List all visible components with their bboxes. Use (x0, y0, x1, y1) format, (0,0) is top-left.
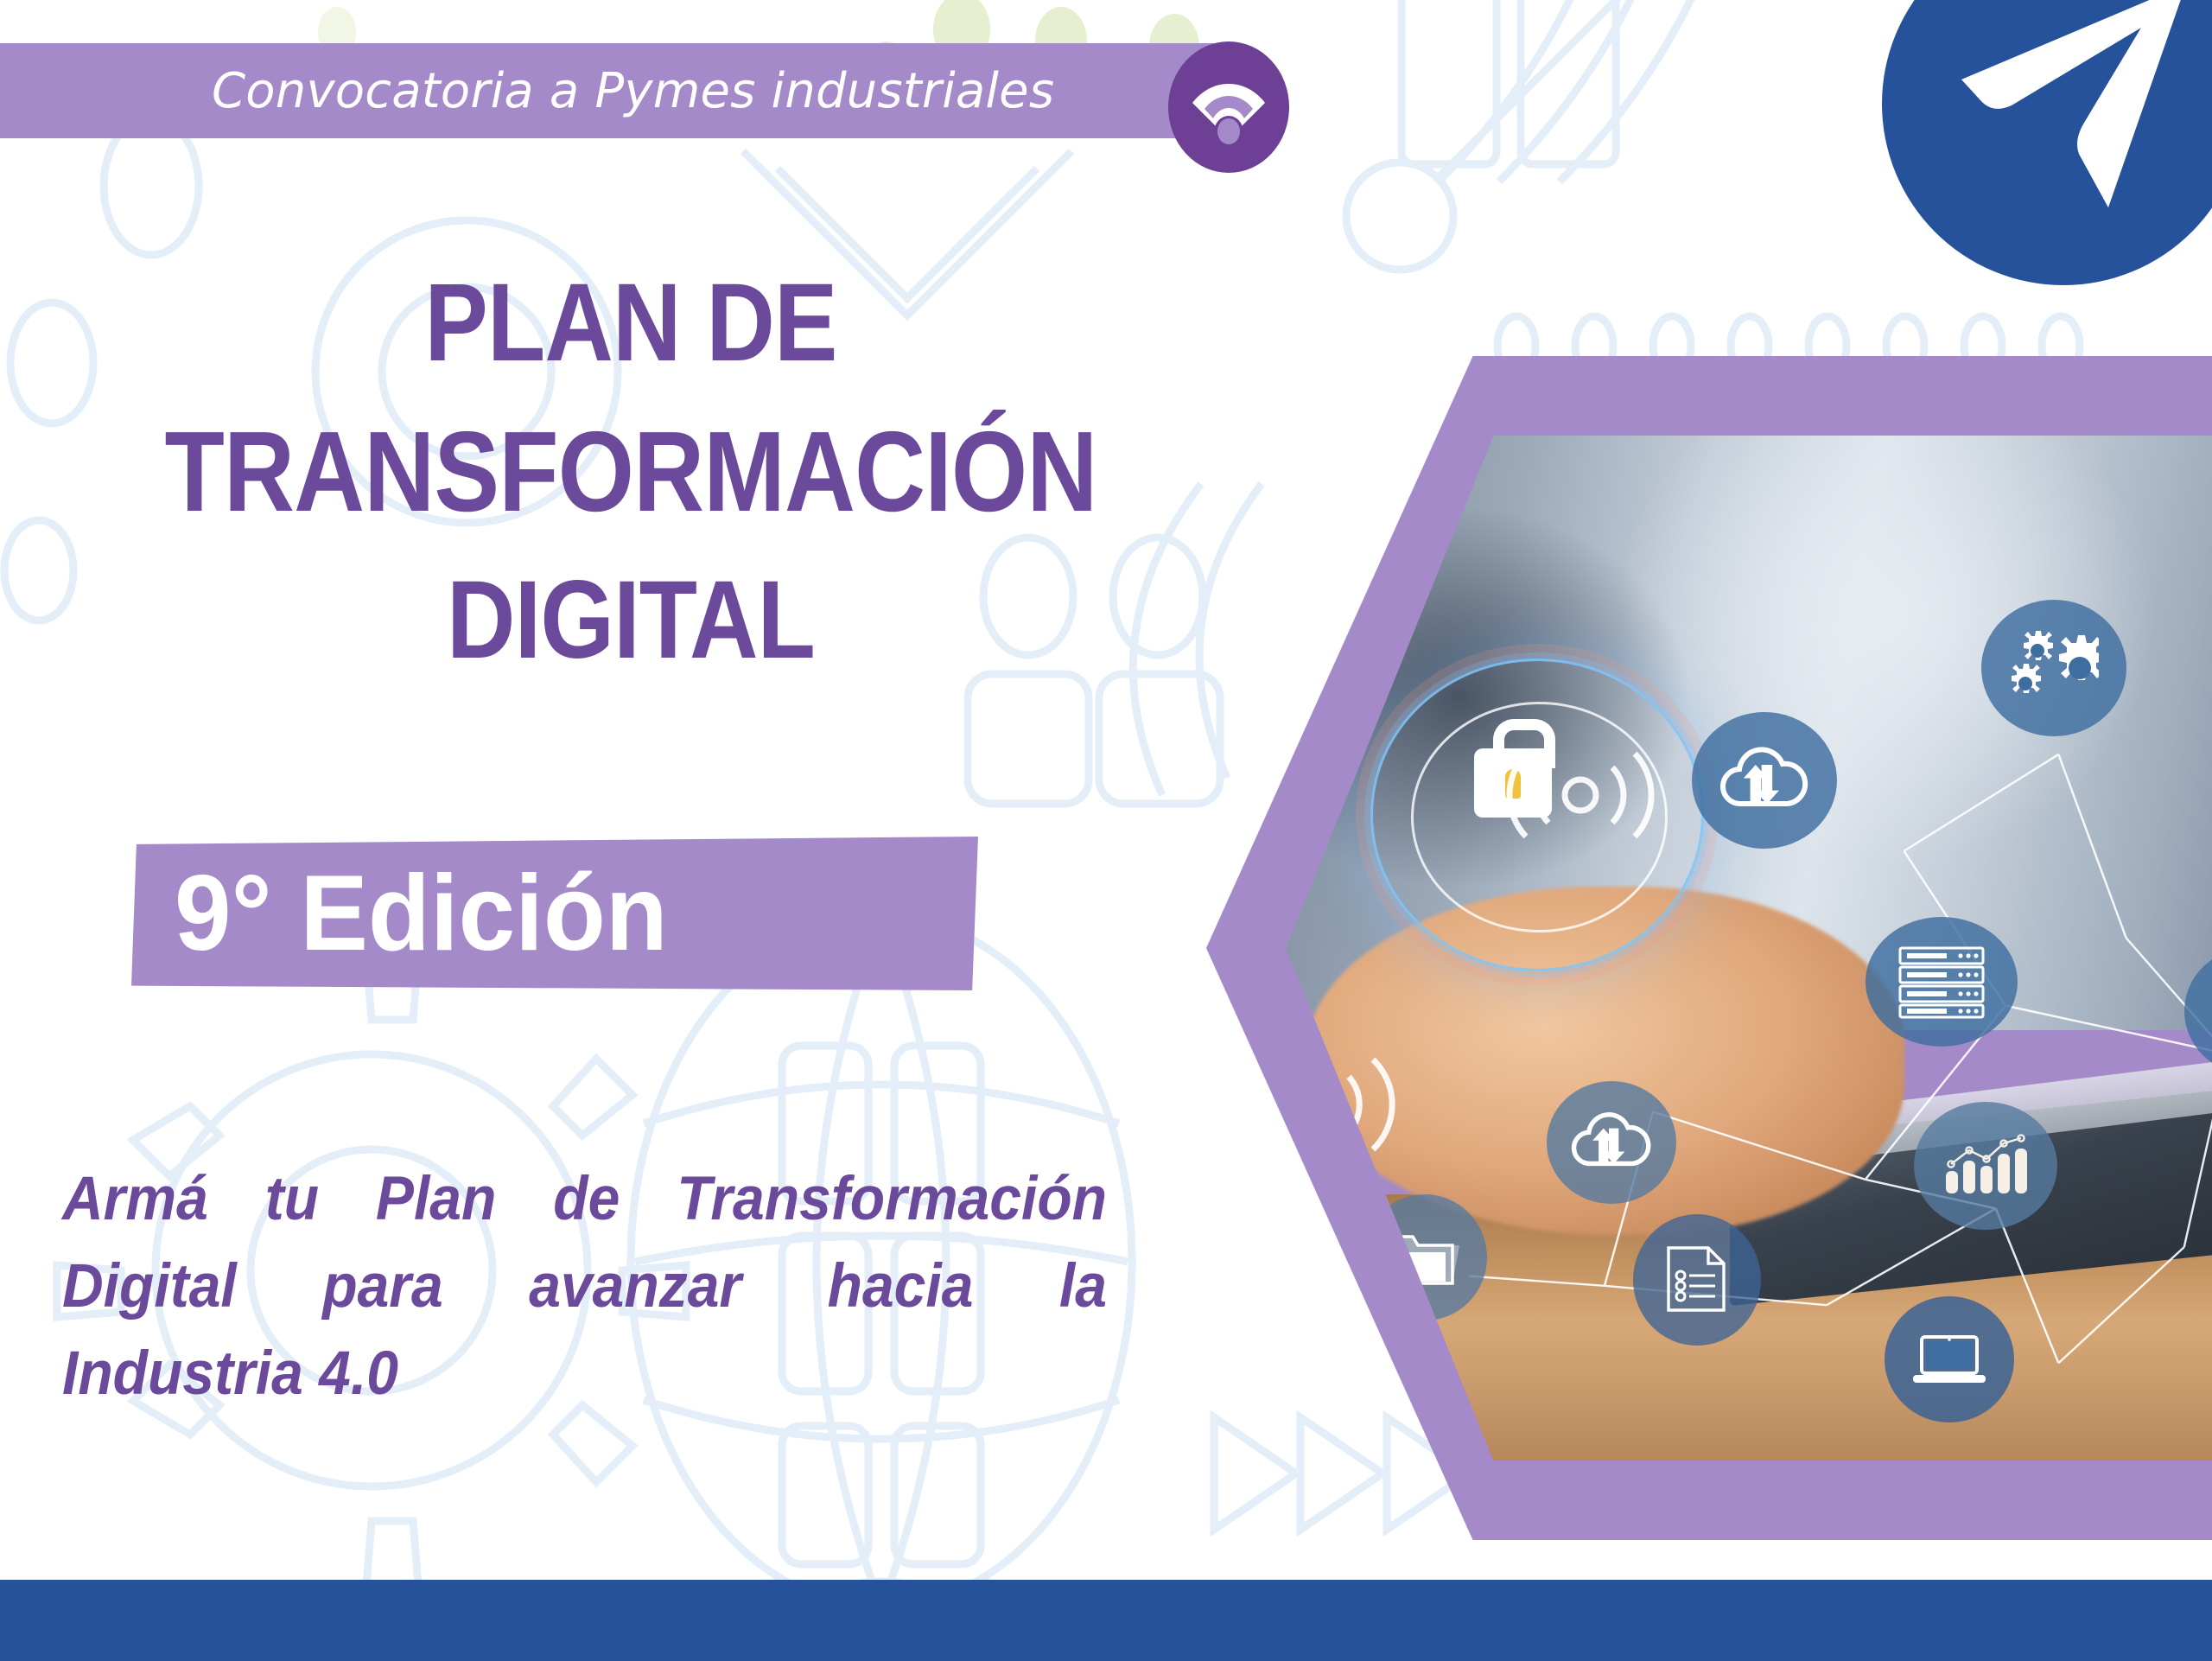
description-text: Armá tu Plan de Transformación Digital p… (62, 1156, 1107, 1417)
top-banner: Convocatoria a Pymes industriales (0, 43, 1214, 138)
brand-logo (1882, 0, 2212, 285)
bubble-gears (1981, 600, 2126, 736)
description-line-3: Industria 4.0 (62, 1331, 1107, 1418)
server-rack-icon (1895, 944, 1988, 1020)
bubble-checklist-document (1633, 1214, 1761, 1346)
edition-label: 9° Edición (175, 852, 668, 975)
poster-canvas: Convocatoria a Pymes industriales PLAN D… (0, 0, 2212, 1661)
bar-chart-icon (1941, 1131, 2031, 1200)
footer-bar (0, 1580, 2212, 1661)
bubble-bar-chart (1914, 1102, 2057, 1230)
edition-badge: 9° Edición (131, 837, 978, 990)
page-title: PLAN DE TRANSFORMACIÓN DIGITAL (133, 268, 1128, 676)
bubble-laptop (1885, 1296, 2014, 1422)
bubble-cloud-sync (1692, 712, 1837, 849)
title-line-3: DIGITAL (133, 565, 1128, 676)
title-line-1: PLAN DE (133, 268, 1128, 379)
laptop-icon (1910, 1330, 1989, 1389)
banner-title: Convocatoria a Pymes industriales (212, 63, 1054, 119)
description-line-1: Armá tu Plan de Transformación (62, 1156, 1107, 1244)
cloud-sync-icon (1719, 743, 1810, 818)
title-line-2: TRANSFORMACIÓN (133, 415, 1128, 529)
bubble-server (1866, 917, 2018, 1047)
cloud-sync-icon (1570, 1108, 1653, 1177)
hero-image-hexagon (1206, 356, 2212, 1540)
bubble-cloud-sync-lower (1547, 1081, 1676, 1204)
gears-icon (2009, 631, 2099, 705)
wifi-icon (1189, 70, 1268, 144)
signal-waves-icon (1498, 743, 1662, 847)
description-line-2: Digital para avanzar hacia la (62, 1244, 1107, 1331)
checklist-document-icon (1658, 1243, 1736, 1317)
wifi-badge (1168, 41, 1289, 173)
arrow-seven-logo-icon (1882, 0, 2212, 285)
